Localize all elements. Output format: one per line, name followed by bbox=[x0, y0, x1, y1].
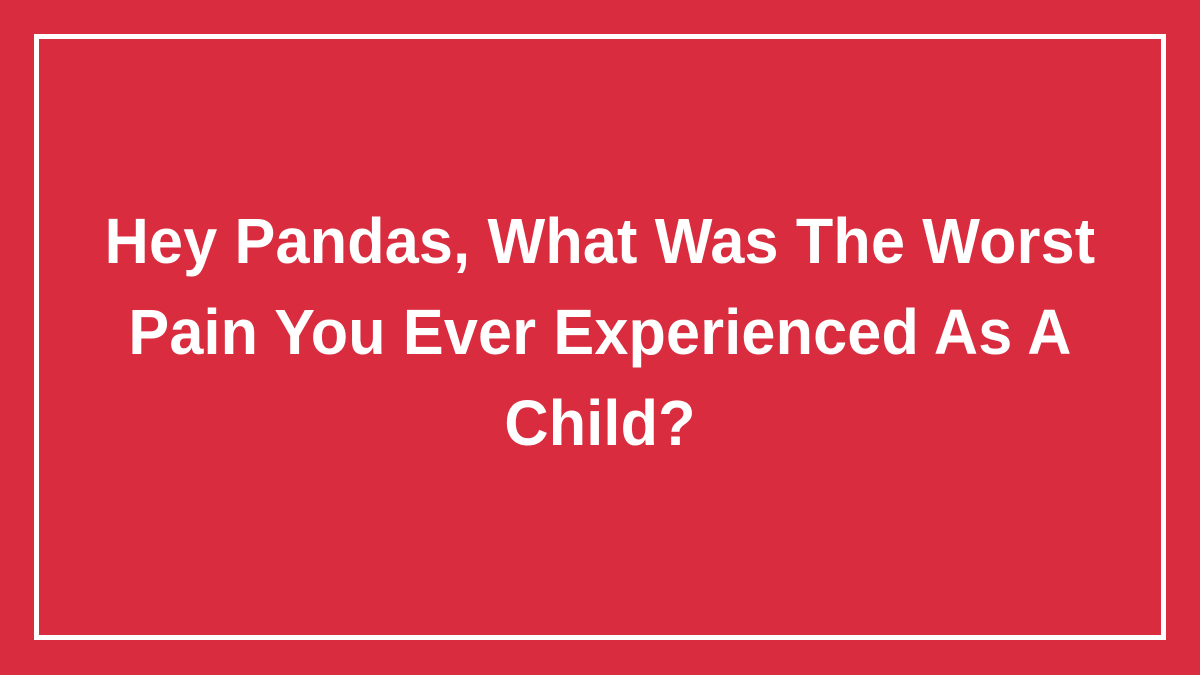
title-line-3: Child? bbox=[77, 378, 1124, 469]
banner-card: Hey Pandas, What Was The Worst Pain You … bbox=[0, 0, 1200, 675]
page-title: Hey Pandas, What Was The Worst Pain You … bbox=[52, 196, 1148, 469]
title-line-2: Pain You Ever Experienced As A bbox=[77, 287, 1124, 378]
title-line-1: Hey Pandas, What Was The Worst bbox=[77, 196, 1124, 287]
